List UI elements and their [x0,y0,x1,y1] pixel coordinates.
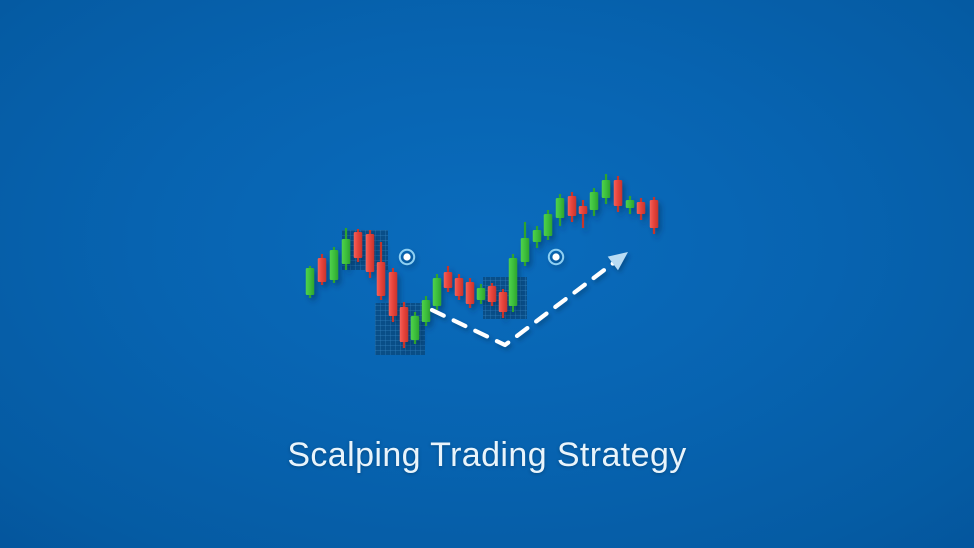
candlestick [389,268,398,322]
candlestick [568,192,577,222]
marker-dot [403,253,410,260]
candle-body [637,202,646,214]
slide-canvas: Scalping Trading Strategy [0,0,974,548]
candle-body [342,239,351,264]
candlestick [400,302,409,348]
candlestick [444,266,453,292]
candlestick [509,254,518,312]
candlestick [614,176,623,212]
candlestick [433,274,442,310]
marker-dot [552,253,559,260]
candlestick [521,222,530,266]
arrow-head-icon [608,252,628,270]
candle-body [499,292,508,312]
candle-body [318,258,327,282]
candlestick [533,226,542,248]
candlestick [590,188,599,216]
candle-series [306,174,659,348]
candle-body [366,234,375,272]
candlestick [602,174,611,204]
candlestick [626,196,635,214]
candlestick [306,266,315,298]
candle-body [455,278,464,296]
candlestick [422,296,431,326]
candle-body [433,278,442,306]
candle-body [389,272,398,316]
candle-body [602,180,611,198]
candlestick [544,210,553,240]
candle-body [568,196,577,216]
candlestick [579,200,588,228]
candle-body [509,258,518,306]
candlestick [556,194,565,226]
candle-body [306,268,315,295]
candle-body [579,206,588,214]
candle-body [626,200,635,208]
candlestick-chart [0,0,974,548]
candle-body [544,214,553,236]
candlestick [330,247,339,283]
candle-body [477,288,486,300]
candle-body [590,192,599,210]
candlestick [354,229,363,262]
candlestick [637,198,646,220]
candle-body [444,272,453,288]
candle-body [354,232,363,258]
candlestick [318,254,327,285]
candlestick [411,312,420,344]
candle-body [466,282,475,304]
candlestick [466,278,475,308]
candle-body [614,180,623,206]
candlestick [455,274,464,300]
dashed-trend-arrow [432,252,628,345]
candle-body [556,198,565,218]
candle-body [533,230,542,242]
candlestick [650,197,659,234]
candle-body [488,286,497,302]
candle-body [650,200,659,228]
candle-body [377,262,386,296]
candle-body [422,300,431,322]
candle-body [411,316,420,340]
candle-body [521,238,530,262]
candlestick [366,230,375,278]
candle-body [400,307,409,342]
candle-body [330,250,339,280]
